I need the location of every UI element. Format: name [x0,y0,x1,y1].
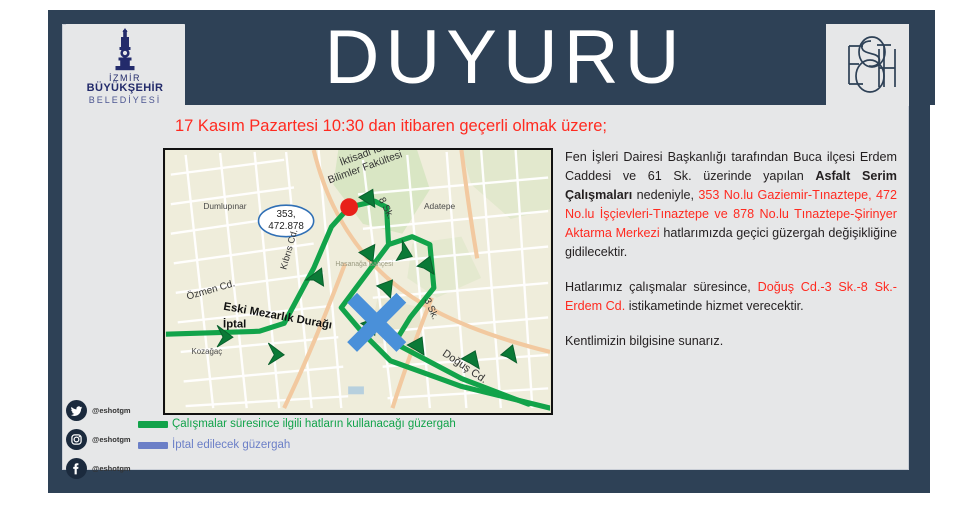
izmir-municipality-logo: İZMİR BÜYÜKŞEHİR BELEDİYESİ [66,24,184,106]
clock-tower-icon [108,28,142,72]
callout-line-1: 353, [277,209,296,220]
twitter-icon[interactable] [66,400,87,421]
social-links: @eshotgm @eshotgm @eshotgm [66,400,156,487]
logo-line-belediyesi: BELEDİYESİ [89,95,162,106]
social-facebook[interactable]: @eshotgm [66,458,156,479]
social-instagram[interactable]: @eshotgm [66,429,156,450]
body-paragraph-1: Fen İşleri Dairesi Başkanlığı tarafından… [565,148,897,262]
map-legend: Çalışmalar süresince ilgili hatların kul… [138,418,456,460]
eshot-logo [826,24,909,106]
facebook-handle: @eshotgm [92,464,131,473]
legend-label-cancelled-route: İptal edilecek güzergah [172,439,290,451]
eshot-monogram-icon [837,32,899,98]
facebook-icon[interactable] [66,458,87,479]
map-label-iptal: İptal [223,317,246,330]
announcement-page: DUYURU İZMİR BÜYÜKŞEHİR BELEDİYESİ [0,0,957,520]
p2-seg3: istikametinde hizmet verecektir. [625,299,803,313]
body-paragraph-2: Hatlarımız çalışmalar süresince, Doğuş C… [565,278,897,316]
page-title: DUYURU [185,10,825,105]
route-map: 353, 472.878 Dumlupınar Kıbrıs Cd. Özmen… [163,148,553,415]
body-paragraph-3: Kentlimizin bilgisine sunarız. [565,332,897,351]
route-number-callout: 353, 472.878 [259,205,314,237]
headline-text: 17 Kasım Pazartesi 10:30 dan itibaren ge… [175,117,607,136]
map-label-kozagac: Kozağaç [192,347,223,356]
map-graphic: 353, 472.878 Dumlupınar Kıbrıs Cd. Özmen… [165,150,551,413]
map-label-hasanaga: Hasanağa Bahçesi [335,261,393,268]
legend-item-cancelled-route: İptal edilecek güzergah [138,439,456,451]
p1-seg3: nedeniyle, [632,188,698,202]
red-dot-marker [340,198,358,216]
callout-line-2: 472.878 [268,221,304,232]
logo-line-buyuksehir: BÜYÜKŞEHİR [87,83,164,95]
announcement-body: Fen İşleri Dairesi Başkanlığı tarafından… [565,148,897,367]
instagram-handle: @eshotgm [92,435,131,444]
p2-seg1: Hatlarımız çalışmalar süresince, [565,280,758,294]
legend-item-active-route: Çalışmalar süresince ilgili hatların kul… [138,418,456,430]
legend-label-active-route: Çalışmalar süresince ilgili hatların kul… [172,418,456,430]
instagram-icon[interactable] [66,429,87,450]
map-label-dumlupinar: Dumlupınar [203,201,246,211]
map-label-adatepe: Adatepe [424,201,455,211]
twitter-handle: @eshotgm [92,406,131,415]
social-twitter[interactable]: @eshotgm [66,400,156,421]
